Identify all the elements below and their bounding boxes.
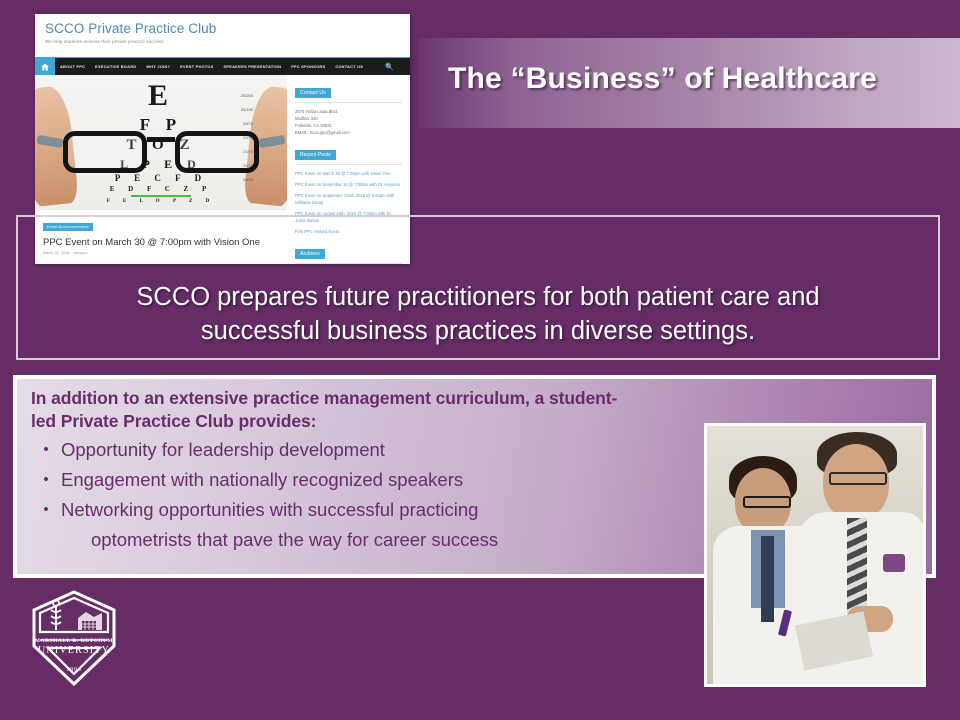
content-lead-line-2: led Private Practice Club provides: (31, 411, 316, 431)
logo-year: 1904 (26, 666, 122, 673)
website-nav[interactable]: ABOUT PPC EXECUTIVE BOARD WHY JOIN? EVEN… (35, 57, 410, 75)
statement-text: SCCO prepares future practitioners for b… (33, 280, 923, 358)
search-icon[interactable]: 🔍 (385, 63, 394, 71)
acuity-1: 20/200 (241, 89, 253, 103)
chart-row-7: F E L O P Z D (35, 199, 287, 204)
logo-name-line-2: UNIVERSITY (26, 645, 122, 656)
statement-box: SCCO prepares future practitioners for b… (16, 215, 940, 360)
lens-right (175, 131, 259, 173)
recent-post-link[interactable]: PPC Event on March 30 @ 7:00pm with Visi… (295, 170, 402, 177)
bullet-marker: • (31, 465, 61, 495)
hero-image-eye-chart: E F P T O Z L P E D P E C F D E D F C Z … (35, 75, 287, 210)
faculty-tie (847, 518, 867, 614)
logo-name-line-1: MARSHALL B. KETCHUM (26, 638, 122, 644)
bullet-marker: • (31, 495, 61, 555)
website-title: SCCO Private Practice Club (45, 21, 410, 36)
nav-item-contact-us[interactable]: CONTACT US (330, 64, 368, 69)
sidebar-heading-contact: Contact Us (295, 88, 331, 98)
divider (295, 102, 402, 103)
website-header: SCCO Private Practice Club We help stude… (35, 14, 410, 57)
bullet-marker: • (31, 435, 61, 465)
faculty-glasses-icon (829, 472, 887, 485)
home-icon[interactable] (35, 58, 55, 76)
glasses-bridge (147, 137, 175, 142)
nav-item-executive-board[interactable]: EXECUTIVE BOARD (90, 64, 141, 69)
acuity-3: 20/70 (241, 117, 253, 131)
contact-line: Mailbox 340 (295, 115, 402, 122)
student-tie (761, 536, 774, 622)
bullet-text: Networking opportunities with successful… (61, 499, 478, 520)
eyeglasses-icon (63, 131, 259, 175)
nav-item-why-join[interactable]: WHY JOIN? (141, 64, 175, 69)
nav-item-about[interactable]: ABOUT PPC (55, 64, 90, 69)
nav-item-speakers-presentation[interactable]: SPEAKERS PRESENTATION (219, 64, 287, 69)
ketchum-shield-logo: MARSHALL B. KETCHUM UNIVERSITY 1904 (26, 588, 122, 688)
student-glasses-icon (743, 496, 791, 508)
chart-green-line (131, 195, 191, 197)
website-tagline: We help students achieve their private p… (45, 39, 410, 44)
logo-wordmark: MARSHALL B. KETCHUM UNIVERSITY (26, 638, 122, 656)
lens-left (63, 131, 147, 173)
sidebar-contact-widget: Contact Us 2575 Yorba Linda Blvd. Mailbo… (295, 81, 402, 136)
faculty-coat-logo (883, 554, 905, 572)
recent-post-link[interactable]: PPC Event on November 19 @ 7:00pm with D… (295, 181, 402, 188)
acuity-7: 20/25 (241, 173, 253, 187)
contact-line: 2575 Yorba Linda Blvd. (295, 108, 402, 115)
contact-line: EMAIL: scco.ppc@gmail.com (295, 129, 402, 136)
photo-doctors (704, 423, 926, 687)
chart-row-6: E D F C Z P (35, 186, 287, 193)
content-lead-line-1: In addition to an extensive practice man… (31, 388, 617, 408)
nav-item-event-photos[interactable]: EVENT PHOTOS (175, 64, 218, 69)
slide-canvas: The “Business” of Healthcare SCCO Privat… (0, 0, 960, 720)
statement-line-1: SCCO prepares future practitioners for b… (136, 283, 819, 311)
divider (295, 164, 402, 165)
sidebar-heading-recent-posts: Recent Posts (295, 150, 336, 160)
acuity-2: 20/100 (241, 103, 253, 117)
statement-line-2: successful business practices in diverse… (201, 317, 755, 345)
contact-line: Fullerton, CA 92831 (295, 122, 402, 129)
nav-item-ppc-sponsors[interactable]: PPC SPONSORS (286, 64, 330, 69)
page-title: The “Business” of Healthcare (448, 62, 958, 96)
recent-post-link[interactable]: PPC Event on September 22nd, 2015 @ 6:00… (295, 192, 402, 206)
